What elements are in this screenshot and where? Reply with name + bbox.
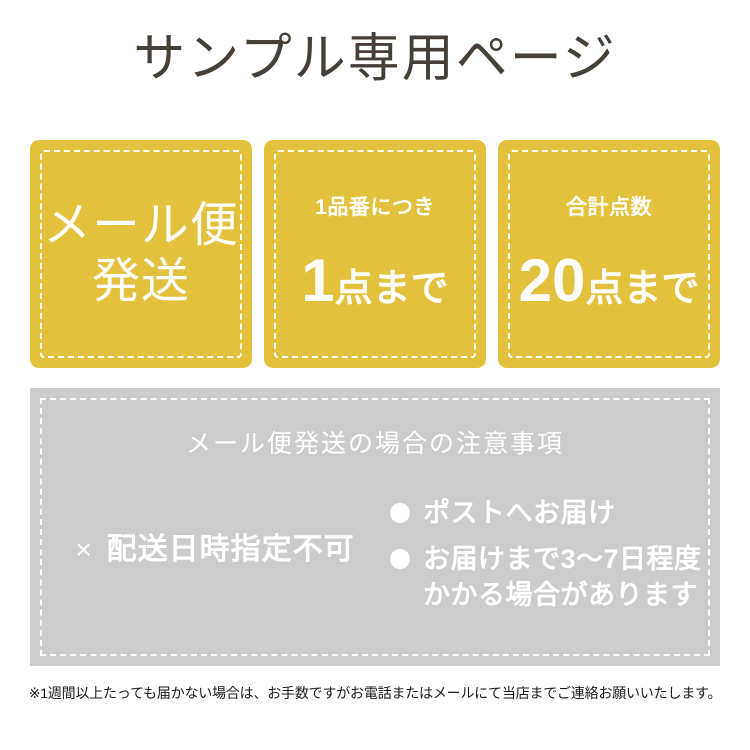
card-per-item-limit-suffix: 点まで	[335, 268, 449, 310]
card-shipping-method: メール便 発送	[30, 140, 252, 368]
footnote: ※1週間以上たっても届かない場合は、お手数ですがお電話またはメールにて当店までご…	[0, 682, 750, 704]
card-per-item-limit-value: 1点まで	[264, 257, 486, 313]
bullet-dot-icon	[390, 549, 410, 569]
card-total-limit-number: 20	[519, 247, 586, 314]
sample-page-banner: サンプル専用ページ メール便 発送 1品番につき 1点まで 合計点数	[0, 0, 750, 750]
card-shipping-method-line1: メール便	[30, 198, 252, 254]
cross-icon: ×	[75, 534, 92, 565]
notice-body: ×配送日時指定不可 ポストへお届け お届けまで3〜7日程度 かかる場合があります	[40, 493, 710, 656]
notice-restriction-text: 配送日時指定不可	[107, 533, 355, 566]
card-total-limit: 合計点数 20点まで	[498, 140, 720, 368]
card-per-item-limit-number: 1	[301, 247, 334, 314]
notice-bullet-list: ポストへお届け お届けまで3〜7日程度 かかる場合があります	[390, 493, 710, 623]
card-shipping-method-line2: 発送	[30, 254, 252, 310]
card-total-limit-value: 20点まで	[498, 257, 720, 313]
card-per-item-limit-label: 1品番につき	[264, 195, 486, 221]
card-shipping-method-content: メール便 発送	[30, 198, 252, 310]
page-title: サンプル専用ページ	[0, 28, 750, 90]
card-per-item-limit-content: 1品番につき 1点まで	[264, 195, 486, 313]
bullet-dot-icon	[390, 503, 410, 523]
list-item-label: ポストへお届け	[423, 495, 710, 531]
notice-heading: メール便発送の場合の注意事項	[30, 428, 720, 460]
card-total-limit-label: 合計点数	[498, 195, 720, 221]
notice-restriction: ×配送日時指定不可	[40, 493, 390, 569]
card-total-limit-suffix: 点まで	[585, 268, 699, 310]
list-item: ポストへお届け	[390, 495, 710, 531]
card-total-limit-content: 合計点数 20点まで	[498, 195, 720, 313]
info-card-row: メール便 発送 1品番につき 1点まで 合計点数 20点まで	[30, 140, 720, 368]
card-per-item-limit: 1品番につき 1点まで	[264, 140, 486, 368]
list-item-label: お届けまで3〜7日程度 かかる場合があります	[423, 541, 710, 613]
notice-panel: メール便発送の場合の注意事項 ×配送日時指定不可 ポストへお届け お届けまで3〜…	[30, 388, 720, 666]
list-item: お届けまで3〜7日程度 かかる場合があります	[390, 541, 710, 613]
